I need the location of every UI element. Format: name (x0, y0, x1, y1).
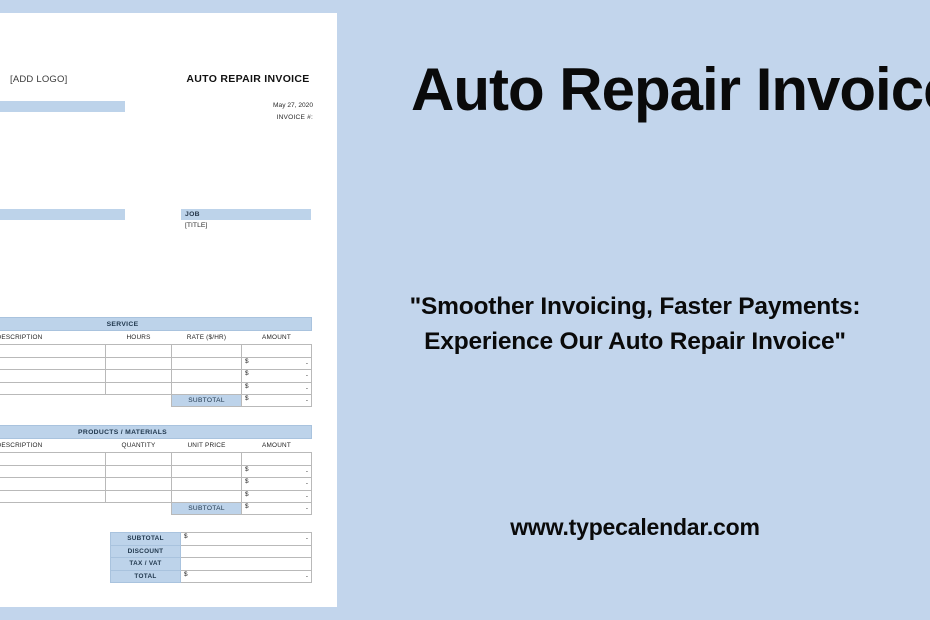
service-col-rate: RATE ($/HR) (172, 331, 242, 345)
products-cell-amount: $ - (242, 478, 312, 491)
table-row: TAX / VAT (111, 558, 312, 571)
service-col-amount: AMOUNT (242, 331, 312, 345)
job-header-bar: JOB (181, 209, 311, 220)
job-header-label: JOB (181, 209, 200, 220)
table-row: $ - (0, 465, 312, 478)
promo-panel: Auto Repair Invoice "Smoother Invoicing,… (337, 0, 930, 620)
table-row: SUBTOTAL $ - (0, 503, 312, 515)
job-title-value[interactable]: [TITLE] (185, 222, 207, 229)
service-table[interactable]: SERVICE DESCRIPTION HOURS RATE ($/HR) AM… (0, 317, 312, 407)
totals-value-tax[interactable] (181, 558, 312, 571)
promo-website-url[interactable]: www.typecalendar.com (353, 514, 917, 541)
table-row: DISCOUNT (111, 545, 312, 558)
service-cell-description[interactable] (0, 370, 106, 383)
service-subtotal-label: SUBTOTAL (172, 395, 242, 407)
totals-label-tax: TAX / VAT (111, 558, 181, 571)
screenshot-canvas: [ADD LOGO] AUTO REPAIR INVOICE May 27, 2… (0, 0, 930, 620)
promo-tagline-line-2: Experience Our Auto Repair Invoice" (353, 325, 917, 360)
promo-heading: Auto Repair Invoice (411, 58, 930, 121)
table-row: SUBTOTAL $ - (0, 395, 312, 407)
table-row: TOTAL $ - (111, 570, 312, 583)
table-row (0, 345, 312, 358)
service-cell-amount (242, 345, 312, 358)
service-spacer-cell (0, 395, 106, 407)
invoice-title: AUTO REPAIR INVOICE (168, 73, 328, 85)
products-cell-amount: $ - (242, 490, 312, 503)
service-cell-rate[interactable] (172, 370, 242, 383)
products-cell-amount: $ - (242, 465, 312, 478)
amount-value: - (306, 505, 308, 512)
invoice-date: May 27, 2020 (168, 102, 313, 109)
service-subtotal-amount: $ - (242, 395, 312, 407)
service-col-hours: HOURS (106, 331, 172, 345)
products-spacer-cell (0, 503, 106, 515)
table-row: DESCRIPTION QUANTITY UNIT PRICE AMOUNT (0, 439, 312, 453)
products-subtotal-label: SUBTOTAL (172, 503, 242, 515)
service-col-description: DESCRIPTION (0, 331, 106, 345)
totals-label-subtotal: SUBTOTAL (111, 533, 181, 546)
service-cell-description[interactable] (0, 345, 106, 358)
currency-symbol: $ (245, 358, 249, 365)
amount-value: - (306, 573, 308, 580)
totals-table[interactable]: SUBTOTAL $ - DISCOUNT (110, 532, 312, 583)
service-cell-rate[interactable] (172, 382, 242, 395)
products-col-quantity: QUANTITY (106, 439, 172, 453)
products-col-description: DESCRIPTION (0, 439, 106, 453)
table-row (0, 453, 312, 466)
products-col-unit-price: UNIT PRICE (172, 439, 242, 453)
from-header-bar: FROM (0, 101, 125, 112)
amount-value: - (306, 397, 308, 404)
service-cell-description[interactable] (0, 382, 106, 395)
products-cell-unit-price[interactable] (172, 478, 242, 491)
invoice-page: [ADD LOGO] AUTO REPAIR INVOICE May 27, 2… (0, 13, 337, 607)
service-cell-amount: $ - (242, 357, 312, 370)
products-cell-quantity[interactable] (106, 465, 172, 478)
service-cell-hours[interactable] (106, 357, 172, 370)
currency-symbol: $ (184, 571, 188, 578)
service-cell-hours[interactable] (106, 370, 172, 383)
table-row: $ - (0, 490, 312, 503)
products-cell-description[interactable] (0, 478, 106, 491)
currency-symbol: $ (245, 491, 249, 498)
service-cell-rate[interactable] (172, 357, 242, 370)
service-cell-amount: $ - (242, 370, 312, 383)
service-cell-hours[interactable] (106, 382, 172, 395)
products-subtotal-amount: $ - (242, 503, 312, 515)
products-cell-quantity[interactable] (106, 453, 172, 466)
service-cell-amount: $ - (242, 382, 312, 395)
logo-placeholder[interactable]: [ADD LOGO] (10, 74, 67, 85)
service-cell-rate[interactable] (172, 345, 242, 358)
invoice-document-preview[interactable]: [ADD LOGO] AUTO REPAIR INVOICE May 27, 2… (0, 13, 337, 607)
currency-symbol: $ (184, 533, 188, 540)
currency-symbol: $ (245, 395, 249, 402)
products-materials-table[interactable]: PRODUCTS / MATERIALS DESCRIPTION QUANTIT… (0, 425, 312, 515)
service-section-title: SERVICE (0, 318, 312, 331)
totals-value-discount[interactable] (181, 545, 312, 558)
currency-symbol: $ (245, 370, 249, 377)
amount-value: - (306, 493, 308, 500)
amount-value: - (306, 385, 308, 392)
products-spacer-cell (106, 503, 172, 515)
totals-value-subtotal[interactable]: $ - (181, 533, 312, 546)
amount-value: - (306, 360, 308, 367)
table-row: $ - (0, 370, 312, 383)
products-cell-unit-price[interactable] (172, 465, 242, 478)
service-spacer-cell (106, 395, 172, 407)
amount-value: - (306, 480, 308, 487)
billto-header-bar: BILL TO (0, 209, 125, 220)
products-cell-quantity[interactable] (106, 490, 172, 503)
products-cell-description[interactable] (0, 465, 106, 478)
totals-label-discount: DISCOUNT (111, 545, 181, 558)
currency-symbol: $ (245, 383, 249, 390)
currency-symbol: $ (245, 466, 249, 473)
promo-tagline-line-1: "Smoother Invoicing, Faster Payments: (353, 290, 917, 325)
table-row: DESCRIPTION HOURS RATE ($/HR) AMOUNT (0, 331, 312, 345)
products-cell-description[interactable] (0, 490, 106, 503)
products-cell-quantity[interactable] (106, 478, 172, 491)
amount-value: - (306, 535, 308, 542)
amount-value: - (306, 468, 308, 475)
table-row: SERVICE (0, 318, 312, 331)
totals-label-total: TOTAL (111, 570, 181, 583)
products-cell-unit-price[interactable] (172, 490, 242, 503)
products-cell-unit-price[interactable] (172, 453, 242, 466)
table-row: SUBTOTAL $ - (111, 533, 312, 546)
table-row: $ - (0, 478, 312, 491)
products-col-amount: AMOUNT (242, 439, 312, 453)
products-cell-description[interactable] (0, 453, 106, 466)
totals-value-total[interactable]: $ - (181, 570, 312, 583)
products-cell-amount (242, 453, 312, 466)
table-row: $ - (0, 382, 312, 395)
promo-tagline: "Smoother Invoicing, Faster Payments: Ex… (353, 290, 917, 360)
products-section-title: PRODUCTS / MATERIALS (0, 426, 312, 439)
currency-symbol: $ (245, 478, 249, 485)
currency-symbol: $ (245, 503, 249, 510)
service-cell-description[interactable] (0, 357, 106, 370)
amount-value: - (306, 372, 308, 379)
service-cell-hours[interactable] (106, 345, 172, 358)
table-row: PRODUCTS / MATERIALS (0, 426, 312, 439)
table-row: $ - (0, 357, 312, 370)
invoice-number-label: INVOICE #: (168, 114, 313, 121)
